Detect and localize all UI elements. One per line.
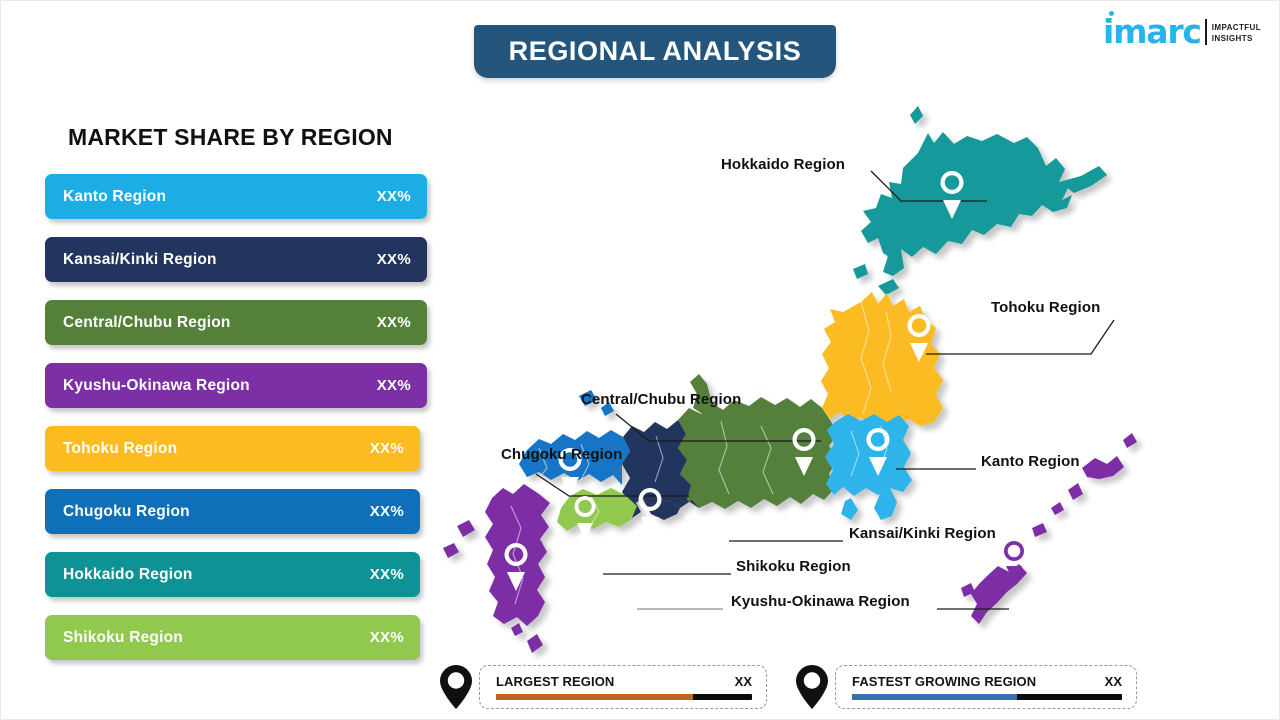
legend-bar-value: XX% [377, 314, 411, 331]
fastest-growing-region-label: FASTEST GROWING REGION [852, 674, 1036, 689]
map-region-hokkaido-islet-c [910, 106, 923, 124]
imarc-logo: imarc IMPACTFUL INSIGHTS [1103, 17, 1261, 48]
largest-region-label: LARGEST REGION [496, 674, 614, 689]
map-region-okinawa-islet-e [1123, 433, 1137, 448]
map-region-kanto-izu [841, 498, 858, 520]
map-label-shikoku: Shikoku Region [736, 558, 851, 575]
map-leader-lines [536, 171, 1114, 609]
japan-map: Hokkaido Region Tohoku Region Central/Ch… [431, 96, 1261, 661]
map-region-kyushu-islet3 [511, 623, 523, 636]
legend-bar[interactable]: Kansai/Kinki RegionXX% [45, 237, 427, 282]
map-region-okinawa-islet-a [1068, 483, 1083, 500]
pin-kansai-tip [641, 517, 659, 536]
map-region-hokkaido-islet-b [878, 279, 899, 295]
map-region-okinawa-islet-b [1051, 502, 1064, 515]
logo-tagline: IMPACTFUL INSIGHTS [1212, 23, 1261, 48]
logo-tagline-line1: IMPACTFUL [1212, 23, 1261, 34]
legend-bar-label: Shikoku Region [63, 629, 370, 647]
pin-okinawa-icon [1004, 541, 1024, 561]
map-region-tohoku[interactable] [821, 292, 943, 427]
largest-region-row: LARGEST REGION XX [496, 674, 752, 689]
legend-bar-value: XX% [377, 188, 411, 205]
legend-bar-label: Kansai/Kinki Region [63, 251, 377, 269]
legend-bar[interactable]: Kyushu-Okinawa RegionXX% [45, 363, 427, 408]
map-label-kanto: Kanto Region [981, 453, 1080, 470]
fastest-growing-region-progress-track [852, 694, 1122, 700]
legend-list: Kanto RegionXX%Kansai/Kinki RegionXX%Cen… [45, 174, 435, 678]
logo-dot-icon [1109, 11, 1114, 16]
map-label-chugoku: Chugoku Region [501, 446, 622, 463]
map-region-okinawa-islet-c [1032, 523, 1047, 537]
largest-region-card[interactable]: LARGEST REGION XX [479, 665, 767, 709]
fastest-growing-region-progress-fill [852, 694, 1017, 700]
legend-bar[interactable]: Central/Chubu RegionXX% [45, 300, 427, 345]
map-label-kansai: Kansai/Kinki Region [849, 525, 996, 542]
fastest-growing-region-row: FASTEST GROWING REGION XX [852, 674, 1122, 689]
fastest-growing-region-card[interactable]: FASTEST GROWING REGION XX [835, 665, 1137, 709]
page-title: REGIONAL ANALYSIS [509, 36, 802, 67]
legend-bar-value: XX% [377, 251, 411, 268]
largest-region-progress-track [496, 694, 752, 700]
legend-bar-label: Hokkaido Region [63, 566, 370, 584]
legend-bar[interactable]: Hokkaido RegionXX% [45, 552, 420, 597]
legend-bar-value: XX% [370, 629, 404, 646]
map-region-kyushu-tanegashima [527, 634, 543, 653]
map-label-hokkaido: Hokkaido Region [721, 156, 845, 173]
legend-bar[interactable]: Tohoku RegionXX% [45, 426, 420, 471]
legend-bar[interactable]: Chugoku RegionXX% [45, 489, 420, 534]
map-label-tohoku: Tohoku Region [991, 299, 1100, 316]
map-region-hokkaido-islet-a [853, 264, 868, 279]
japan-map-svg [431, 96, 1261, 661]
map-region-kyushu-goto [457, 520, 475, 537]
logo-tagline-line2: INSIGHTS [1212, 34, 1261, 45]
map-region-kanto[interactable] [825, 414, 912, 496]
map-region-chubu[interactable] [678, 397, 838, 509]
legend-bar-label: Kanto Region [63, 188, 377, 206]
map-region-kyushu-islet2 [443, 543, 459, 558]
legend-bar[interactable]: Kanto RegionXX% [45, 174, 427, 219]
page-title-banner: REGIONAL ANALYSIS [474, 25, 836, 78]
legend-bar-value: XX% [370, 440, 404, 457]
slide-root: REGIONAL ANALYSIS imarc IMPACTFUL INSIGH… [0, 0, 1280, 720]
largest-region-progress-fill [496, 694, 693, 700]
legend-bar-label: Central/Chubu Region [63, 314, 377, 332]
map-label-kyushu-okinawa: Kyushu-Okinawa Region [731, 593, 910, 610]
legend-title: MARKET SHARE BY REGION [68, 124, 393, 151]
legend-bar-label: Tohoku Region [63, 440, 370, 458]
largest-region-value: XX [723, 674, 752, 689]
map-region-hokkaido[interactable] [861, 132, 1072, 260]
legend-bar-label: Kyushu-Okinawa Region [63, 377, 377, 395]
largest-region-pin-icon [439, 664, 473, 710]
map-label-chubu: Central/Chubu Region [581, 391, 741, 408]
legend-bar-value: XX% [370, 566, 404, 583]
legend-bar-label: Chugoku Region [63, 503, 370, 521]
logo-wordmark: imarc [1103, 12, 1201, 51]
leader-line-tohoku [926, 320, 1114, 354]
legend-bar-value: XX% [370, 503, 404, 520]
fastest-growing-region-value: XX [1093, 674, 1122, 689]
pin-shikoku-tip [577, 523, 593, 540]
fastest-growing-region-pin-icon [795, 664, 829, 710]
legend-bar[interactable]: Shikoku RegionXX% [45, 615, 420, 660]
map-region-kyushu[interactable] [485, 484, 550, 626]
map-region-okinawa-amami [1082, 456, 1124, 479]
logo-divider [1205, 19, 1207, 45]
legend-bar-value: XX% [377, 377, 411, 394]
